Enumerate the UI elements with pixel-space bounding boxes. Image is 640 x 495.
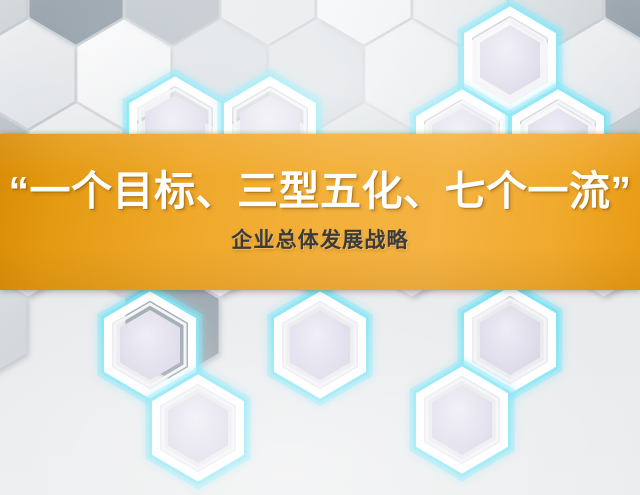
page-subtitle: 企业总体发展战略 [231, 224, 409, 254]
page-title: “一个目标、三型五化、七个一流” [9, 170, 632, 213]
slide-root: “一个目标、三型五化、七个一流” 企业总体发展战略 [0, 0, 640, 495]
title-banner: “一个目标、三型五化、七个一流” 企业总体发展战略 [0, 134, 640, 290]
